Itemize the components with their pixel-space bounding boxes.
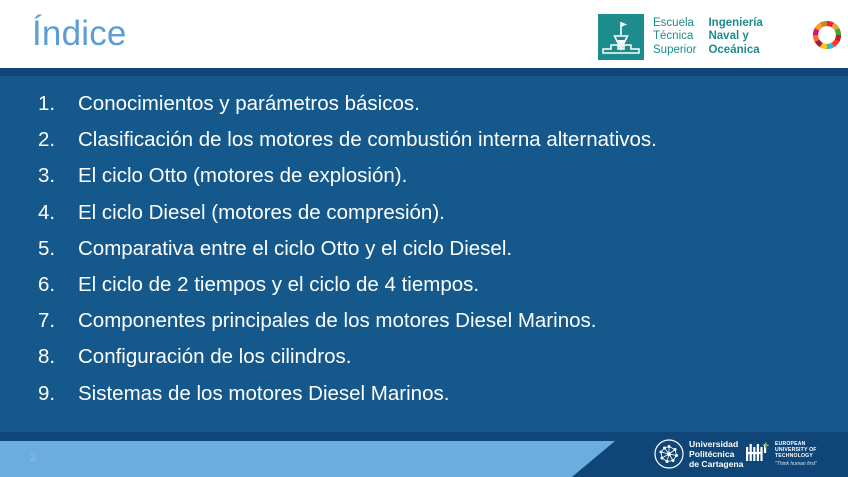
list-item-number: 3. xyxy=(38,158,78,194)
ets-logo: Escuela Técnica Superior Ingeniería Nava… xyxy=(598,13,763,61)
list-item-number: 8. xyxy=(38,339,78,375)
ets-nautical-emblem-icon xyxy=(598,14,644,60)
list-item: 5. Comparativa entre el ciclo Otto y el … xyxy=(0,231,848,267)
list-item-label: El ciclo Diesel (motores de compresión). xyxy=(78,195,848,231)
list-item-label: Clasificación de los motores de combusti… xyxy=(78,122,848,158)
upct-line-3: de Cartagena xyxy=(689,459,743,469)
ets-program-line-2: Naval y xyxy=(708,30,762,44)
eut-monogram-icon xyxy=(745,442,771,466)
list-item-number: 2. xyxy=(38,122,78,158)
upct-wordmark: Universidad Politécnica de Cartagena xyxy=(689,439,743,470)
list-item-label: Componentes principales de los motores D… xyxy=(78,303,848,339)
list-item-label: Configuración de los cilindros. xyxy=(78,339,848,375)
list-item-number: 1. xyxy=(38,86,78,122)
list-item: 9. Sistemas de los motores Diesel Marino… xyxy=(0,376,848,412)
eut-wordmark: EUROPEAN UNIVERSITY OF TECHNOLOGY "Think… xyxy=(775,441,817,468)
eut-line-3: TECHNOLOGY xyxy=(775,453,817,459)
footer-accent-band xyxy=(0,441,615,477)
list-item: 4. El ciclo Diesel (motores de compresió… xyxy=(0,195,848,231)
ets-program-line-1: Ingeniería xyxy=(708,17,762,31)
slide-header: Índice Escuela Técnica Su xyxy=(0,0,848,68)
page-title: Índice xyxy=(32,12,127,56)
list-item-label: El ciclo Otto (motores de explosión). xyxy=(78,158,848,194)
list-item-number: 5. xyxy=(38,231,78,267)
header-divider xyxy=(0,68,848,76)
list-item-number: 6. xyxy=(38,267,78,303)
upct-line-1: Universidad xyxy=(689,439,743,449)
list-item: 2. Clasificación de los motores de combu… xyxy=(0,122,848,158)
eut-text-lines: EUROPEAN UNIVERSITY OF TECHNOLOGY xyxy=(775,441,817,460)
list-item-label: El ciclo de 2 tiempos y el ciclo de 4 ti… xyxy=(78,267,848,303)
ets-school-line-1: Escuela xyxy=(653,17,696,31)
upct-line-2: Politécnica xyxy=(689,449,743,459)
list-item: 7. Componentes principales de los motore… xyxy=(0,303,848,339)
list-item-label: Sistemas de los motores Diesel Marinos. xyxy=(78,376,848,412)
list-item-label: Conocimientos y parámetros básicos. xyxy=(78,86,848,122)
list-item: 6. El ciclo de 2 tiempos y el ciclo de 4… xyxy=(0,267,848,303)
ets-school-wordmark: Escuela Técnica Superior xyxy=(653,17,696,58)
list-item-number: 7. xyxy=(38,303,78,339)
list-item-number: 4. xyxy=(38,195,78,231)
sdg-wheel-icon xyxy=(812,20,842,50)
upct-logo: Universidad Politécnica de Cartagena xyxy=(654,437,743,471)
upct-circular-emblem-icon xyxy=(654,439,684,469)
list-item: 1. Conocimientos y parámetros básicos. xyxy=(0,86,848,122)
list-item: 8. Configuración de los cilindros. xyxy=(0,339,848,375)
eut-tagline: "Think human first" xyxy=(775,461,817,467)
ets-school-line-2: Técnica xyxy=(653,30,696,44)
list-item-number: 9. xyxy=(38,376,78,412)
ets-program-wordmark: Ingeniería Naval y Oceánica xyxy=(708,17,762,58)
ets-school-line-3: Superior xyxy=(653,44,696,58)
page-number: 2 xyxy=(30,452,36,464)
ets-program-line-3: Oceánica xyxy=(708,44,762,58)
index-list: 1. Conocimientos y parámetros básicos. 2… xyxy=(0,76,848,412)
list-item: 3. El ciclo Otto (motores de explosión). xyxy=(0,158,848,194)
list-item-label: Comparativa entre el ciclo Otto y el cic… xyxy=(78,231,848,267)
slide: Índice Escuela Técnica Su xyxy=(0,0,848,477)
eut-logo: EUROPEAN UNIVERSITY OF TECHNOLOGY "Think… xyxy=(745,438,817,470)
